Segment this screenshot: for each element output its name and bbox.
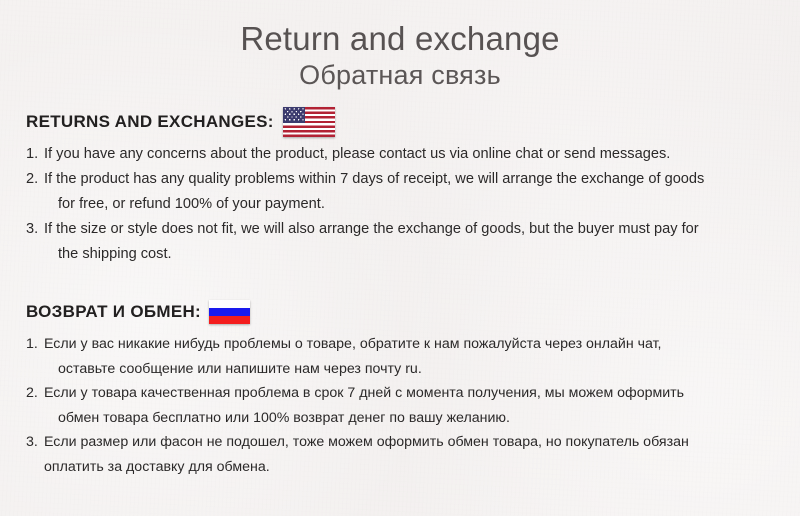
list-item-line: оставьте сообщение или напишите нам чере… [44, 357, 800, 382]
list-item-line: оплатить за доставку для обмена. [44, 455, 800, 480]
page-title-russian: Обратная связь [0, 59, 800, 91]
list-item: 2. Если у товара качественная проблема в… [26, 381, 800, 430]
list-item: 3. Если размер или фасон не подошел, тож… [26, 430, 800, 479]
section-returns-and-exchanges-english: RETURNS AND EXCHANGES: [26, 107, 800, 267]
list-item-body: Если у товара качественная проблема в ср… [44, 381, 800, 430]
list-item-body: Если размер или фасон не подошел, тоже м… [44, 430, 800, 479]
page-title-block: Return and exchange Обратная связь [0, 0, 800, 91]
list-item-line: the shipping cost. [44, 242, 800, 267]
section-heading-russian: ВОЗВРАТ И ОБМЕН: [26, 297, 800, 327]
return-exchange-banner: Return and exchange Обратная связь RETUR… [0, 0, 800, 516]
list-item-line: Если размер или фасон не подошел, тоже м… [44, 430, 800, 455]
list-item-number: 3. [26, 217, 44, 242]
list-item-line: обмен товара бесплатно или 100% возврат … [44, 406, 800, 431]
list-item-body: If the product has any quality problems … [44, 167, 800, 217]
list-item-line: If you have any concerns about the produ… [44, 142, 800, 167]
list-item-number: 2. [26, 167, 44, 192]
list-item-number: 3. [26, 430, 44, 455]
list-item-body: If you have any concerns about the produ… [44, 142, 800, 167]
list-item: 1. Если у вас никакие нибудь проблемы о … [26, 332, 800, 381]
list-item-line: If the product has any quality problems … [44, 167, 800, 192]
list-item-body: Если у вас никакие нибудь проблемы о тов… [44, 332, 800, 381]
list-item-line: Если у товара качественная проблема в ср… [44, 381, 800, 406]
list-item-line: Если у вас никакие нибудь проблемы о тов… [44, 332, 800, 357]
page-title-english: Return and exchange [0, 20, 800, 58]
list-item-number: 1. [26, 332, 44, 357]
section-heading-english: RETURNS AND EXCHANGES: [26, 107, 800, 137]
list-item-number: 1. [26, 142, 44, 167]
list-item-body: If the size or style does not fit, we wi… [44, 217, 800, 267]
list-item: 2. If the product has any quality proble… [26, 167, 800, 217]
returns-list-english: 1. If you have any concerns about the pr… [26, 142, 800, 267]
us-flag-icon [283, 107, 335, 137]
list-item-line: If the size or style does not fit, we wi… [44, 217, 800, 242]
list-item: 3. If the size or style does not fit, we… [26, 217, 800, 267]
list-item-number: 2. [26, 381, 44, 406]
list-item: 1. If you have any concerns about the pr… [26, 142, 800, 167]
section-heading-label-english: RETURNS AND EXCHANGES: [26, 112, 274, 132]
list-item-line: for free, or refund 100% of your payment… [44, 192, 800, 217]
section-heading-label-russian: ВОЗВРАТ И ОБМЕН: [26, 302, 201, 322]
ru-flag-icon [209, 300, 250, 324]
returns-list-russian: 1. Если у вас никакие нибудь проблемы о … [26, 332, 800, 479]
section-returns-and-exchanges-russian: ВОЗВРАТ И ОБМЕН: 1. Если у вас никакие н… [26, 297, 800, 479]
